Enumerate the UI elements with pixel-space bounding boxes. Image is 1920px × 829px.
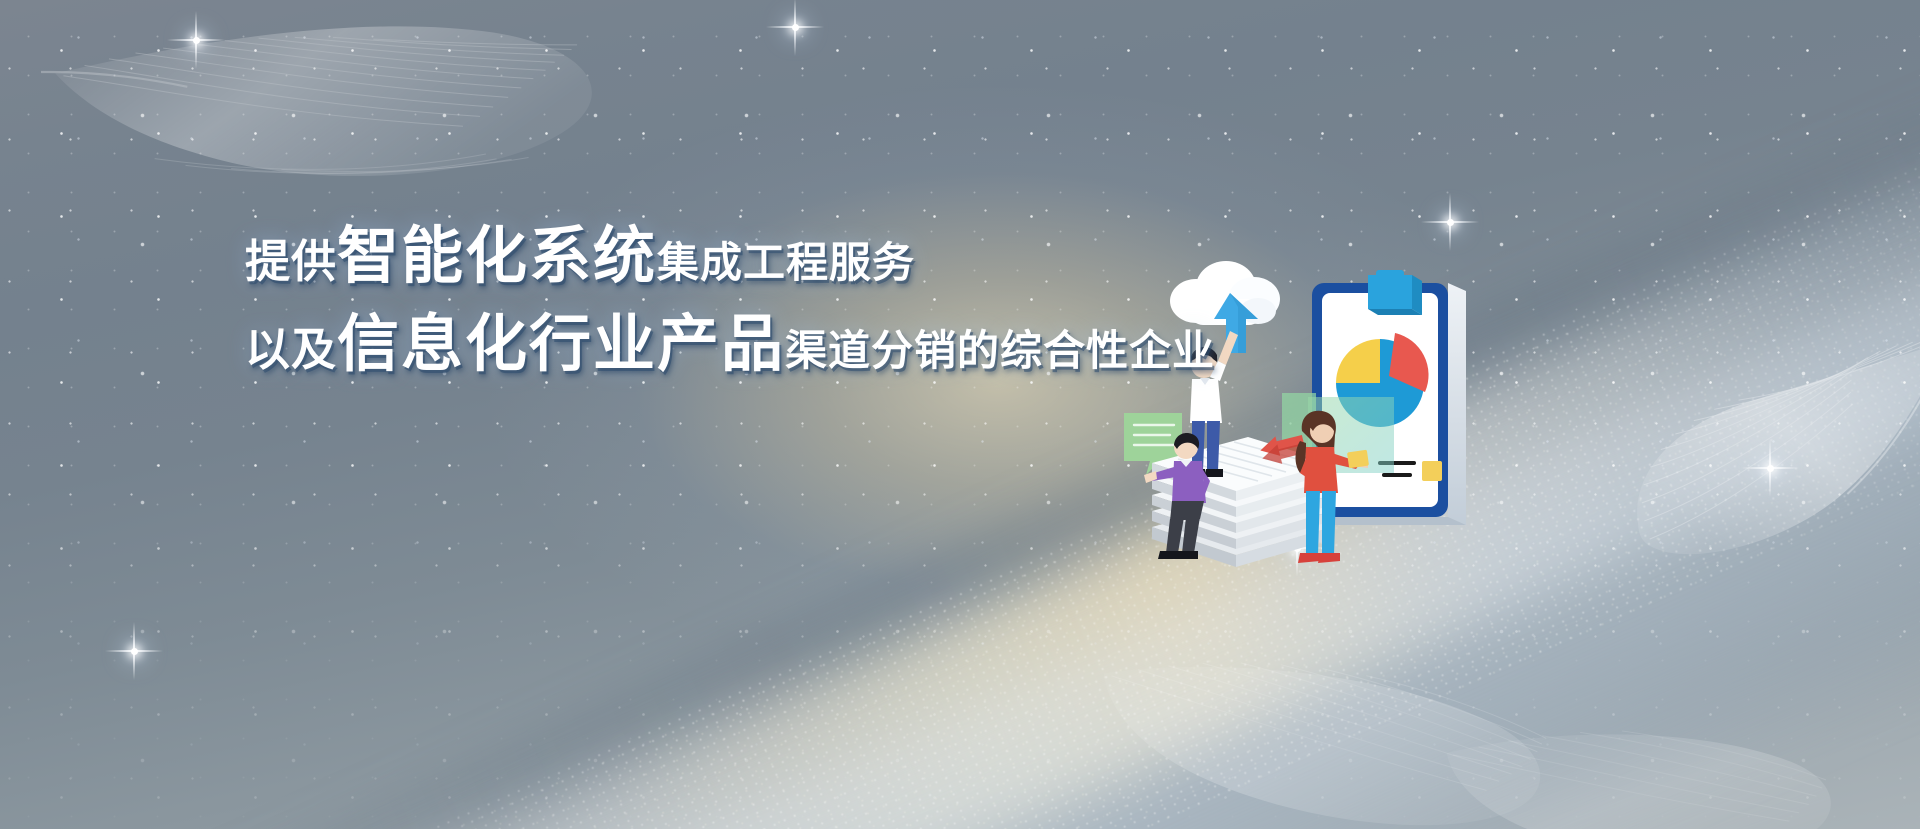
galaxy-dust-lane bbox=[0, 0, 1920, 829]
sticky-note-yellow bbox=[1422, 461, 1442, 481]
headline-line2-emphasis: 信息化行业产品 bbox=[337, 307, 785, 380]
headline-line2-prefix: 以及 bbox=[245, 323, 337, 376]
held-yellow-card bbox=[1347, 450, 1369, 469]
clipboard-clip-icon bbox=[1368, 270, 1422, 315]
feather-bottom-center-icon bbox=[1083, 603, 1598, 829]
headline-accessible-text: 提供智能化系统集成工程服务 bbox=[0, 0, 1, 1]
galaxy-band bbox=[0, 0, 1920, 829]
starfield-medium bbox=[0, 0, 1920, 829]
galaxy-core-glow bbox=[0, 0, 1920, 829]
headline-block: 提供智能化系统集成工程服务 以及信息化行业产品渠道分销的综合性企业 bbox=[245, 225, 1325, 375]
headline-accessible-text-2: 以及信息化行业产品渠道分销的综合性企业 bbox=[0, 0, 1, 1]
feather-bottom-right-icon bbox=[1437, 683, 1863, 829]
galaxy-star-speckle bbox=[0, 0, 1920, 829]
starfield-small bbox=[0, 0, 1920, 829]
headline-line2-suffix: 渠道分销的综合性企业 bbox=[785, 326, 1215, 375]
headline-line-1: 提供智能化系统集成工程服务 bbox=[245, 225, 1325, 287]
headline-line1-emphasis: 智能化系统 bbox=[337, 219, 657, 292]
starfield-large bbox=[0, 0, 1920, 829]
hero-banner: 提供智能化系统集成工程服务 以及信息化行业产品渠道分销的综合性企业 bbox=[0, 0, 1920, 829]
galaxy-dust-cloud bbox=[0, 18, 1920, 829]
feather-top-left-icon bbox=[20, 0, 641, 251]
feather-right-icon bbox=[1595, 323, 1920, 626]
headline-line1-suffix: 集成工程服务 bbox=[657, 238, 915, 287]
headline-line-2: 以及信息化行业产品渠道分销的综合性企业 bbox=[245, 313, 1325, 375]
headline-line1-prefix: 提供 bbox=[245, 235, 337, 288]
